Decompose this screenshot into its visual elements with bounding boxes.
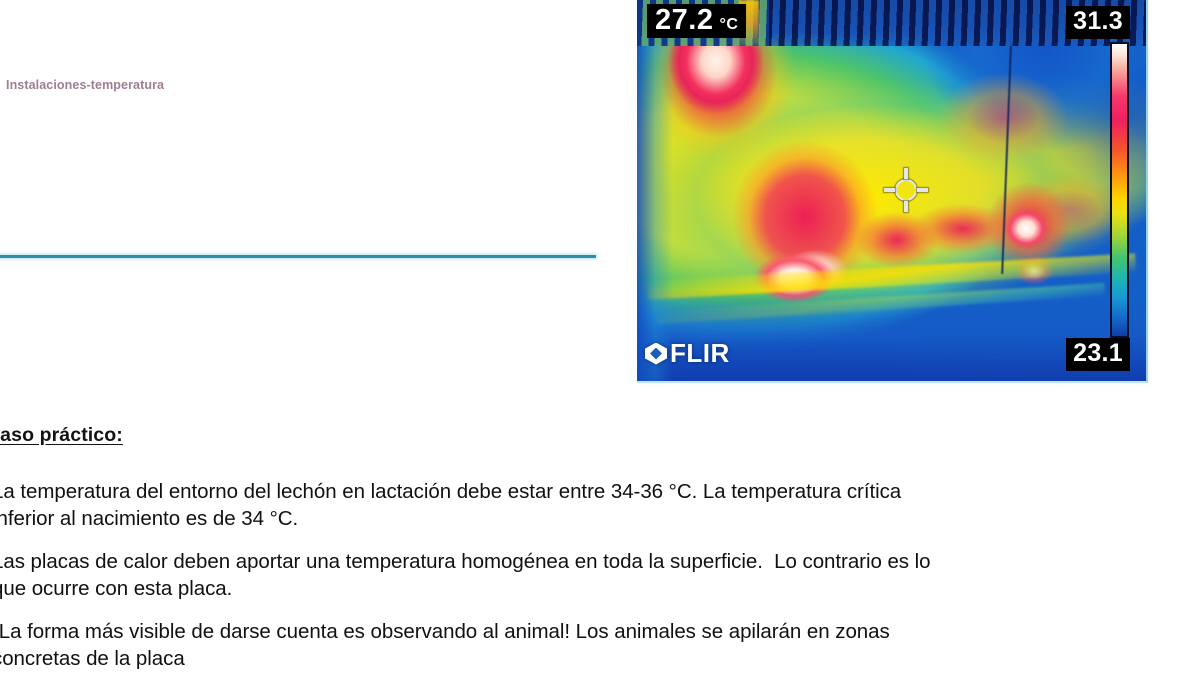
title-divider-line xyxy=(0,255,596,258)
slide-page: Instalaciones-temperatura 27.2 °C xyxy=(0,0,1200,675)
slide-title: Instalaciones-temperatura xyxy=(6,78,164,92)
crosshair-spot-meter-icon xyxy=(884,168,928,212)
crosshair-tick-left xyxy=(884,188,895,192)
flir-diamond-icon xyxy=(645,343,667,365)
thermal-image: 27.2 °C 31.3 23.1 FLIR xyxy=(637,0,1148,383)
flir-logo: FLIR xyxy=(645,338,730,369)
flir-wordmark: FLIR xyxy=(670,338,730,369)
scale-max-label: 31.3 xyxy=(1066,6,1130,39)
crosshair-tick-bottom xyxy=(904,201,908,212)
body-paragraph-3: ¡La forma más visible de darse cuenta es… xyxy=(0,618,1200,673)
crosshair-tick-top xyxy=(904,168,908,179)
spot-temperature-unit: °C xyxy=(719,17,738,34)
body-paragraph-2: Las placas de calor deben aportar una te… xyxy=(0,548,1200,603)
spot-temperature-value: 27.2 xyxy=(655,5,713,35)
scale-min-label: 23.1 xyxy=(1066,338,1130,371)
spot-temperature-readout: 27.2 °C xyxy=(647,4,746,38)
body-text-block: Caso práctico: La temperatura del entorn… xyxy=(0,424,1200,673)
crosshair-tick-right xyxy=(917,188,928,192)
crosshair-ring xyxy=(895,179,917,201)
body-paragraph-1: La temperatura del entorno del lechón en… xyxy=(0,478,1200,533)
caso-practico-heading: Caso práctico: xyxy=(0,424,1200,447)
temperature-colorbar xyxy=(1110,42,1129,338)
